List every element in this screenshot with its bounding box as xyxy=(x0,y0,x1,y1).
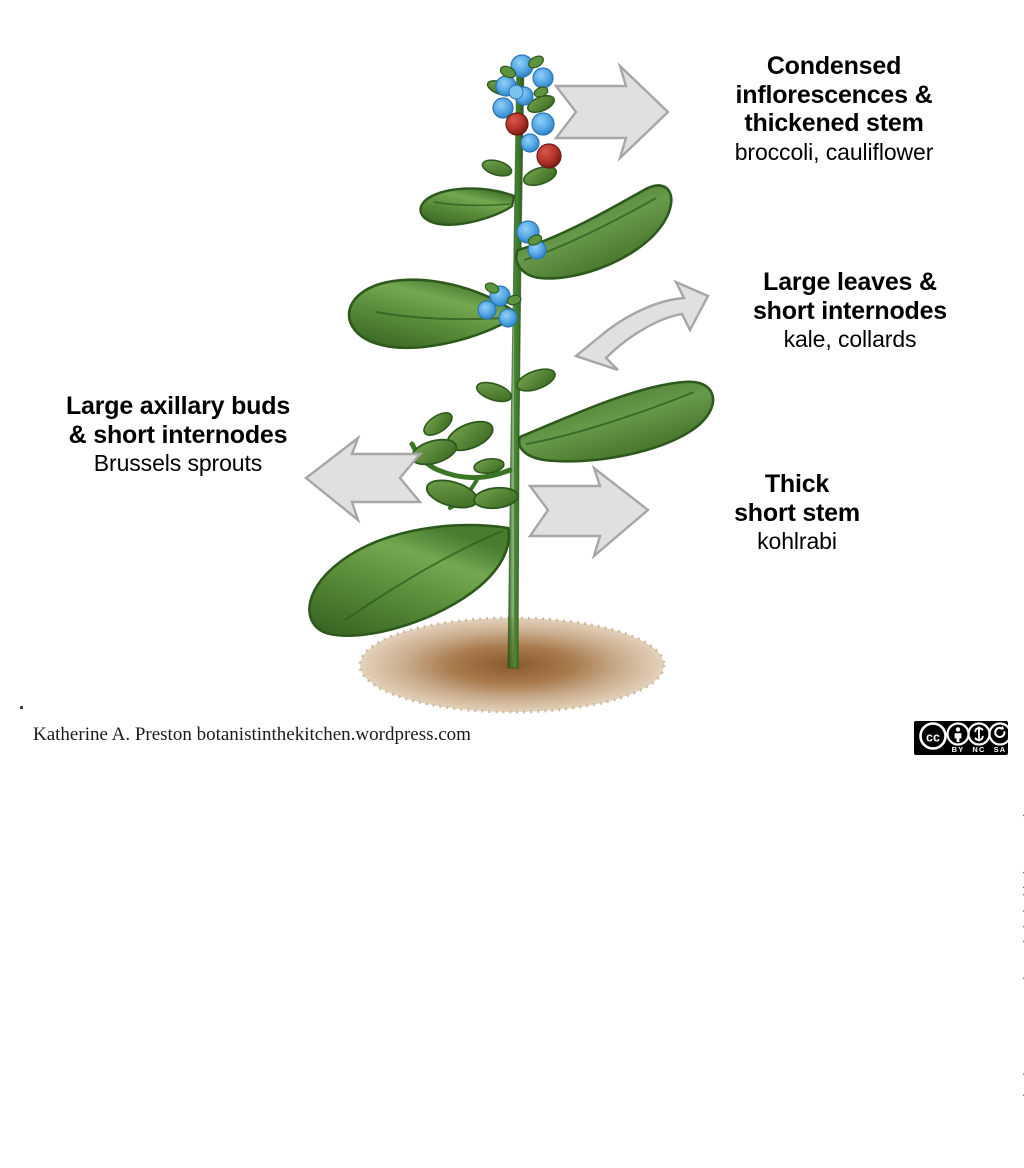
callout-buds-examples: Brussels sprouts xyxy=(18,450,338,476)
callout-leaves-title-line-2: short internodes xyxy=(700,297,1000,326)
callout-leaves-title-line-1: Large leaves & xyxy=(700,268,1000,297)
svg-text:cc: cc xyxy=(926,731,940,745)
leaf-lower-left xyxy=(309,525,508,636)
callout-stem: Thick short stem kohlrabi xyxy=(662,470,932,554)
main-stem xyxy=(508,60,524,668)
callout-leaves-examples: kale, collards xyxy=(700,326,1000,352)
cc-by-nc-sa-icon: cc BY NC SA xyxy=(914,721,1008,755)
callout-leaves: Large leaves & short internodes kale, co… xyxy=(700,268,1000,352)
callout-inflorescence-title-line-3: thickened stem xyxy=(660,109,1008,138)
callout-stem-title-line-2: short stem xyxy=(662,499,932,528)
callout-inflorescence: Condensed inflorescences & thickened ste… xyxy=(660,52,1008,165)
axillary-bud-branch xyxy=(409,408,519,512)
callout-stem-examples: kohlrabi xyxy=(662,528,932,554)
callout-stem-title-line-1: Thick xyxy=(662,470,932,499)
leaf-mid-right xyxy=(519,382,713,462)
callout-buds: Large axillary buds & short internodes B… xyxy=(18,392,338,476)
svg-text:BY: BY xyxy=(952,745,965,754)
figure-canvas: Condensed inflorescences & thickened ste… xyxy=(0,0,1024,768)
svg-text:SA: SA xyxy=(994,745,1007,754)
callout-buds-title-line-1: Large axillary buds xyxy=(18,392,338,421)
credit-line-bottom: Katherine A. Preston botanistinthekitche… xyxy=(33,724,471,746)
callout-inflorescence-title-line-2: inflorescences & xyxy=(660,81,1008,110)
leaf-upper-left xyxy=(421,189,514,225)
svg-text:NC: NC xyxy=(972,745,985,754)
cc-license-badge[interactable]: cc BY NC SA xyxy=(914,721,1008,755)
callout-inflorescence-title-line-1: Condensed xyxy=(660,52,1008,81)
callout-inflorescence-examples: broccoli, cauliflower xyxy=(660,139,1008,165)
callout-buds-title-line-2: & short internodes xyxy=(18,421,338,450)
stray-dot-mark xyxy=(20,706,23,709)
